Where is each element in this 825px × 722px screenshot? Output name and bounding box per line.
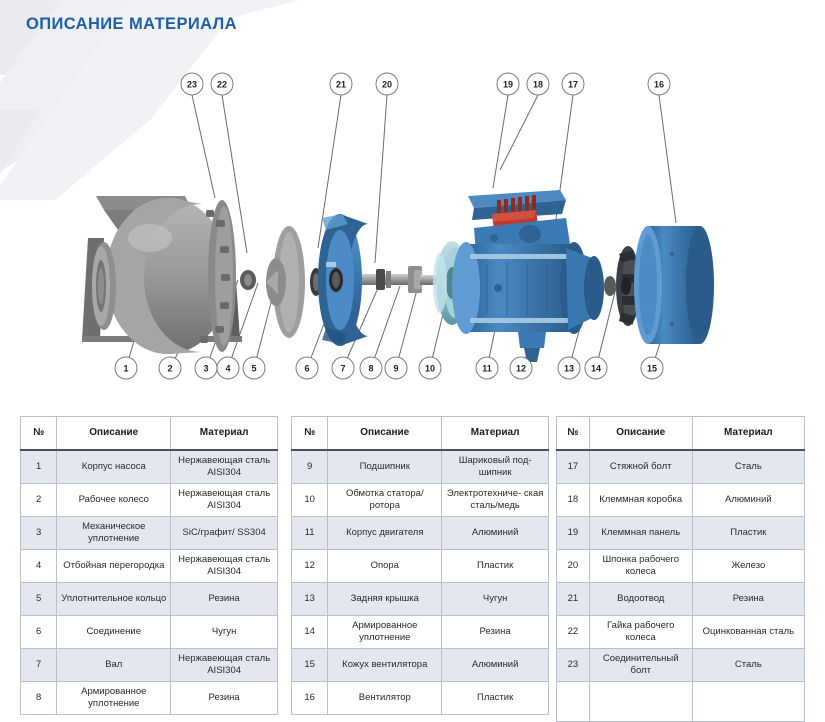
table-row: 13Задняя крышкаЧугун — [292, 582, 549, 615]
table-row: 11Корпус двигателяАлюминий — [292, 516, 549, 549]
cell-description — [589, 681, 692, 721]
cell-num: 1 — [21, 450, 57, 483]
cell-material: Оцинкованная сталь — [692, 615, 804, 648]
svg-text:21: 21 — [336, 80, 346, 90]
svg-text:1: 1 — [123, 364, 128, 374]
callout-1: 1 — [115, 357, 137, 379]
svg-text:7: 7 — [340, 364, 345, 374]
table-row: 8Армированное уплотнениеРезина — [21, 681, 278, 714]
table-row: 3Механическое уплотнениеSiC/графит/ SS30… — [21, 516, 278, 549]
cell-material: Резина — [692, 582, 804, 615]
svg-text:23: 23 — [187, 80, 197, 90]
cell-material: Резина — [171, 582, 278, 615]
svg-text:6: 6 — [304, 364, 309, 374]
svg-text:16: 16 — [654, 80, 664, 90]
cell-description: Вал — [57, 648, 171, 681]
material-table-3: № Описание Материал 17Стяжной болтСталь1… — [556, 416, 805, 722]
cell-description: Водоотвод — [589, 582, 692, 615]
cell-num: 11 — [292, 516, 328, 549]
table-row: 4Отбойная перегородкаНержавеющая сталь A… — [21, 549, 278, 582]
table-row: 10Обмотка статора/ ротораЭлектротехниче-… — [292, 483, 549, 516]
cell-material: Алюминий — [692, 483, 804, 516]
callout-15: 15 — [641, 357, 663, 379]
cell-num: 3 — [21, 516, 57, 549]
material-table-1-wrapper: № Описание Материал 1Корпус насосаНержав… — [20, 416, 278, 715]
cell-num: 15 — [292, 648, 328, 681]
header-num: № — [21, 417, 57, 451]
cell-material: Пластик — [442, 681, 549, 714]
svg-text:9: 9 — [393, 364, 398, 374]
cell-description: Опора — [328, 549, 442, 582]
table-header-row: № Описание Материал — [557, 417, 805, 451]
cell-num: 6 — [21, 615, 57, 648]
callout-11: 11 — [476, 357, 498, 379]
cell-material: Сталь — [692, 648, 804, 681]
header-material: Материал — [692, 417, 804, 451]
cell-material: Чугун — [442, 582, 549, 615]
cell-material: Нержавеющая сталь AISI304 — [171, 450, 278, 483]
cell-material: Железо — [692, 549, 804, 582]
cell-num: 23 — [557, 648, 590, 681]
cell-description: Кожух вентилятора — [328, 648, 442, 681]
table-row: 1Корпус насосаНержавеющая сталь AISI304 — [21, 450, 278, 483]
cell-num: 12 — [292, 549, 328, 582]
callout-13: 13 — [558, 357, 580, 379]
callout-3: 3 — [195, 357, 217, 379]
table-row: 16ВентиляторПластик — [292, 681, 549, 714]
callouts-bottom: 1 2 3 4 5 6 7 8 9 10 11 12 13 14 15 — [115, 357, 663, 379]
cell-description: Уплотнительное кольцо — [57, 582, 171, 615]
cell-num: 20 — [557, 549, 590, 582]
material-table-1: № Описание Материал 1Корпус насосаНержав… — [20, 416, 278, 715]
header-num: № — [557, 417, 590, 451]
table-row: 14Армированное уплотнениеРезина — [292, 615, 549, 648]
svg-text:14: 14 — [591, 364, 601, 374]
cell-material: Пластик — [692, 516, 804, 549]
fan-cowl — [634, 226, 714, 344]
cell-num: 5 — [21, 582, 57, 615]
table-row: 21ВодоотводРезина — [557, 582, 805, 615]
header-material: Материал — [171, 417, 278, 451]
callout-9: 9 — [385, 357, 407, 379]
svg-text:12: 12 — [516, 364, 526, 374]
cell-material: SiC/графит/ SS304 — [171, 516, 278, 549]
callout-10: 10 — [419, 357, 441, 379]
cell-material: Нержавеющая сталь AISI304 — [171, 648, 278, 681]
callout-20: 20 — [376, 73, 398, 95]
cell-description: Корпус насоса — [57, 450, 171, 483]
cell-num: 21 — [557, 582, 590, 615]
svg-text:18: 18 — [533, 80, 543, 90]
cell-num: 22 — [557, 615, 590, 648]
header-description: Описание — [328, 417, 442, 451]
table-row: 19Клеммная панельПластик — [557, 516, 805, 549]
motor-body — [452, 190, 604, 362]
table-row: 2Рабочее колесоНержавеющая сталь AISI304 — [21, 483, 278, 516]
cell-description: Армированное уплотнение — [328, 615, 442, 648]
header-num: № — [292, 417, 328, 451]
callout-12: 12 — [510, 357, 532, 379]
cell-description: Отбойная перегородка — [57, 549, 171, 582]
cell-num: 18 — [557, 483, 590, 516]
svg-text:8: 8 — [368, 364, 373, 374]
callout-5: 5 — [243, 357, 265, 379]
callout-22: 22 — [211, 73, 233, 95]
cell-material: Сталь — [692, 450, 804, 483]
table-row: 15Кожух вентилятораАлюминий — [292, 648, 549, 681]
cell-description: Подшипник — [328, 450, 442, 483]
cell-description: Вентилятор — [328, 681, 442, 714]
callout-4: 4 — [217, 357, 239, 379]
svg-text:20: 20 — [382, 80, 392, 90]
cell-description: Армированное уплотнение — [57, 681, 171, 714]
cell-description: Клеммная коробка — [589, 483, 692, 516]
cell-num: 17 — [557, 450, 590, 483]
table-row — [557, 681, 805, 721]
cell-num: 8 — [21, 681, 57, 714]
cell-material: Электротехниче- ская сталь/медь — [442, 483, 549, 516]
pump-exploded-diagram: 23 22 21 20 19 18 17 16 1 2 3 4 5 6 7 8 … — [0, 48, 825, 398]
callout-8: 8 — [360, 357, 382, 379]
connection-housing — [318, 214, 368, 346]
material-table-2: № Описание Материал 9ПодшипникШариковый … — [291, 416, 549, 715]
callout-14: 14 — [585, 357, 607, 379]
cell-material: Алюминий — [442, 648, 549, 681]
cell-description: Задняя крышка — [328, 582, 442, 615]
svg-text:19: 19 — [503, 80, 513, 90]
cell-description: Рабочее колесо — [57, 483, 171, 516]
cell-description: Соединительный болт — [589, 648, 692, 681]
svg-text:11: 11 — [482, 364, 492, 374]
cell-description: Обмотка статора/ ротора — [328, 483, 442, 516]
callout-2: 2 — [159, 357, 181, 379]
material-table-2-wrapper: № Описание Материал 9ПодшипникШариковый … — [291, 416, 549, 715]
cell-num: 13 — [292, 582, 328, 615]
callout-23: 23 — [181, 73, 203, 95]
table-row: 20Шпонка рабочего колесаЖелезо — [557, 549, 805, 582]
cell-material: Нержавеющая сталь AISI304 — [171, 483, 278, 516]
table-row: 9ПодшипникШариковый под- шипник — [292, 450, 549, 483]
pump-housing-group — [82, 196, 242, 354]
callout-16: 16 — [648, 73, 670, 95]
table-header-row: № Описание Материал — [21, 417, 278, 451]
svg-text:17: 17 — [568, 80, 578, 90]
table-row: 17Стяжной болтСталь — [557, 450, 805, 483]
svg-text:15: 15 — [647, 364, 657, 374]
callout-17: 17 — [562, 73, 584, 95]
cell-num: 16 — [292, 681, 328, 714]
header-material: Материал — [442, 417, 549, 451]
callout-19: 19 — [497, 73, 519, 95]
table-row: 7ВалНержавеющая сталь AISI304 — [21, 648, 278, 681]
table-row: 6СоединениеЧугун — [21, 615, 278, 648]
table-header-row: № Описание Материал — [292, 417, 549, 451]
cell-description: Механическое уплотнение — [57, 516, 171, 549]
cell-material — [692, 681, 804, 721]
cell-material: Чугун — [171, 615, 278, 648]
cell-material: Пластик — [442, 549, 549, 582]
callout-21: 21 — [330, 73, 352, 95]
table-row: 18Клеммная коробкаАлюминий — [557, 483, 805, 516]
cell-description: Клеммная панель — [589, 516, 692, 549]
svg-text:2: 2 — [167, 364, 172, 374]
cell-material: Резина — [171, 681, 278, 714]
svg-text:13: 13 — [564, 364, 574, 374]
svg-text:10: 10 — [425, 364, 435, 374]
callout-6: 6 — [296, 357, 318, 379]
cell-material: Нержавеющая сталь AISI304 — [171, 549, 278, 582]
callout-7: 7 — [332, 357, 354, 379]
cell-material: Резина — [442, 615, 549, 648]
cell-num: 19 — [557, 516, 590, 549]
cell-description: Корпус двигателя — [328, 516, 442, 549]
table-row: 23Соединительный болтСталь — [557, 648, 805, 681]
svg-text:4: 4 — [225, 364, 230, 374]
cell-description: Стяжной болт — [589, 450, 692, 483]
cell-description: Соединение — [57, 615, 171, 648]
cell-num — [557, 681, 590, 721]
svg-text:3: 3 — [203, 364, 208, 374]
header-description: Описание — [589, 417, 692, 451]
table-row: 12ОпораПластик — [292, 549, 549, 582]
table-row: 22Гайка рабочего колесаОцинкованная стал… — [557, 615, 805, 648]
cell-num: 14 — [292, 615, 328, 648]
baffle-disc — [266, 226, 305, 338]
cell-description: Гайка рабочего колеса — [589, 615, 692, 648]
cell-num: 9 — [292, 450, 328, 483]
cell-num: 2 — [21, 483, 57, 516]
svg-text:5: 5 — [251, 364, 256, 374]
cell-num: 4 — [21, 549, 57, 582]
table-row: 5Уплотнительное кольцоРезина — [21, 582, 278, 615]
cell-num: 7 — [21, 648, 57, 681]
svg-text:22: 22 — [217, 80, 227, 90]
callout-18: 18 — [527, 73, 549, 95]
header-description: Описание — [57, 417, 171, 451]
impeller-group — [240, 270, 256, 290]
cell-description: Шпонка рабочего колеса — [589, 549, 692, 582]
cell-material: Шариковый под- шипник — [442, 450, 549, 483]
page-title: ОПИСАНИЕ МАТЕРИАЛА — [26, 15, 237, 34]
callouts-top: 23 22 21 20 19 18 17 16 — [181, 73, 670, 95]
cell-material: Алюминий — [442, 516, 549, 549]
cell-num: 10 — [292, 483, 328, 516]
material-table-3-wrapper: № Описание Материал 17Стяжной болтСталь1… — [556, 416, 805, 722]
